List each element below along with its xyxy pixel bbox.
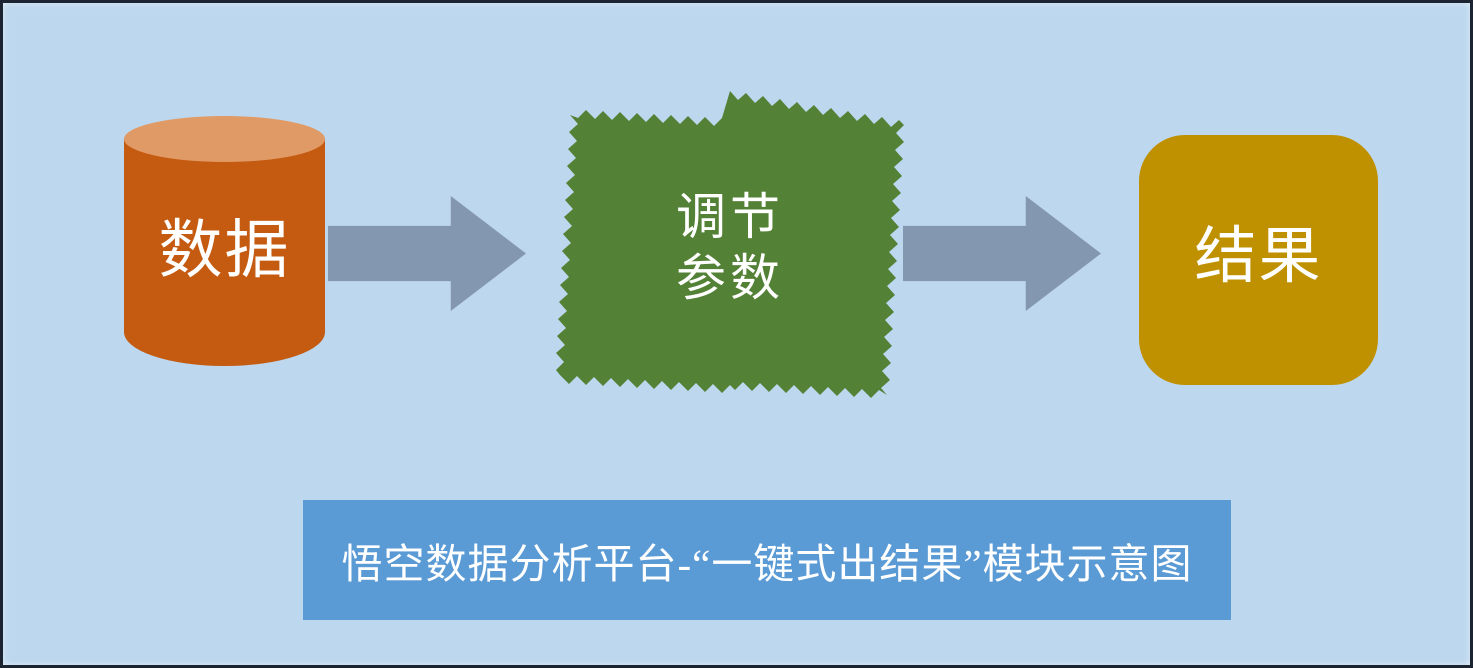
caption-banner: 悟空数据分析平台-“一键式出结果”模块示意图 bbox=[303, 500, 1231, 620]
connector-arrow-data-to-tune[interactable] bbox=[328, 196, 526, 311]
caption-text: 悟空数据分析平台-“一键式出结果”模块示意图 bbox=[341, 530, 1192, 590]
cylinder-top-ellipse bbox=[124, 116, 325, 162]
node-result-roundrect[interactable]: 结果 bbox=[1139, 135, 1378, 385]
connector-arrow-tune-to-result[interactable] bbox=[903, 196, 1101, 311]
diagram-canvas: 数据 调节 参数 结果 悟空数据分析平台-“一键式出结果”模块示意图 bbox=[0, 0, 1473, 668]
node-tune-parameters-label: 调节 参数 bbox=[556, 187, 904, 309]
node-result-label: 结果 bbox=[1139, 223, 1378, 292]
node-data-cylinder[interactable]: 数据 bbox=[124, 116, 325, 388]
node-tune-parameters-diamond[interactable]: 调节 参数 bbox=[556, 91, 904, 417]
node-data-label: 数据 bbox=[124, 215, 325, 287]
